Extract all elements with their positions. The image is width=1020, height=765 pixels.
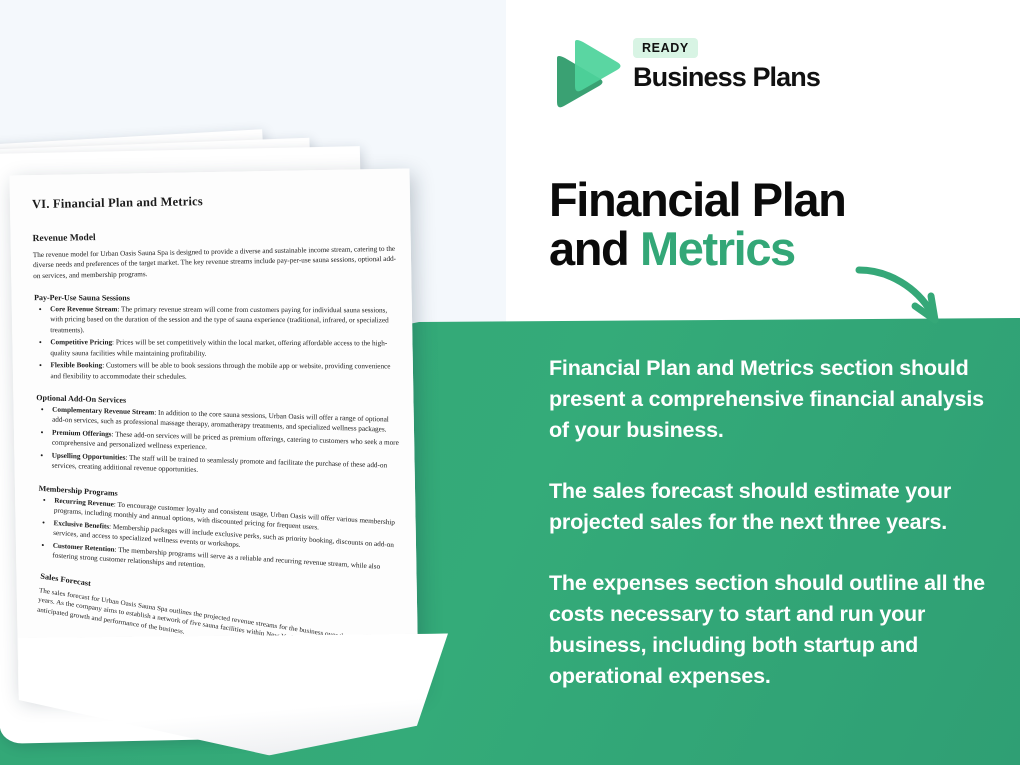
brand-wordmark: READY Business Plans: [633, 38, 820, 93]
bullet-term: Competitive Pricing: [50, 339, 112, 347]
bullet-list: Core Revenue Stream: The primary revenue…: [34, 304, 398, 382]
bullet-term: Premium Offerings: [52, 429, 112, 439]
curved-arrow-down-right-icon: [855, 258, 965, 338]
slide-canvas: VI Re Th inc stre Pay Op M M S VI. Finan…: [0, 0, 1020, 765]
panel-paragraph: The expenses section should outline all …: [549, 568, 997, 692]
headline-line-1: Financial Plan: [549, 173, 845, 226]
headline-line-2-accent: Metrics: [640, 222, 795, 275]
section-revenue-model: Revenue Model The revenue model for Urba…: [33, 228, 398, 282]
section-heading: Revenue Model: [33, 228, 397, 244]
brand-name: Business Plans: [633, 62, 820, 93]
ready-badge: READY: [633, 38, 698, 58]
bullet-list: Complementary Revenue Stream: In additio…: [36, 404, 401, 481]
panel-paragraph: Financial Plan and Metrics section shoul…: [549, 353, 997, 446]
brand-logo[interactable]: READY Business Plans: [549, 34, 909, 116]
bullet-term: Flexible Booking: [50, 362, 102, 370]
list-item: Flexible Booking: Customers will be able…: [50, 361, 398, 383]
panel-paragraph: The sales forecast should estimate your …: [549, 476, 997, 538]
document-content: VI. Financial Plan and Metrics Revenue M…: [32, 191, 403, 626]
list-item: Competitive Pricing: Prices will be set …: [50, 338, 398, 360]
bullet-term: Upselling Opportunities: [52, 452, 126, 462]
section-body: The revenue model for Urban Oasis Sauna …: [33, 244, 397, 282]
panel-description: Financial Plan and Metrics section shoul…: [549, 353, 997, 692]
subsection-pay-per-use: Pay-Per-Use Sauna Sessions Core Revenue …: [34, 293, 398, 382]
subsection-heading: Pay-Per-Use Sauna Sessions: [34, 293, 398, 303]
headline-line-2-plain: and: [549, 222, 640, 275]
document-front-page[interactable]: VI. Financial Plan and Metrics Revenue M…: [9, 169, 418, 696]
subsection-optional-addons: Optional Add-On Services Complementary R…: [36, 393, 401, 481]
list-item: Core Revenue Stream: The primary revenue…: [50, 304, 398, 337]
double-play-triangle-icon: [549, 36, 621, 112]
subsection-membership: Membership Programs Recurring Revenue: T…: [36, 484, 402, 584]
bullet-term: Core Revenue Stream: [50, 305, 117, 313]
bullet-text: : Customers will be able to book session…: [51, 362, 391, 381]
